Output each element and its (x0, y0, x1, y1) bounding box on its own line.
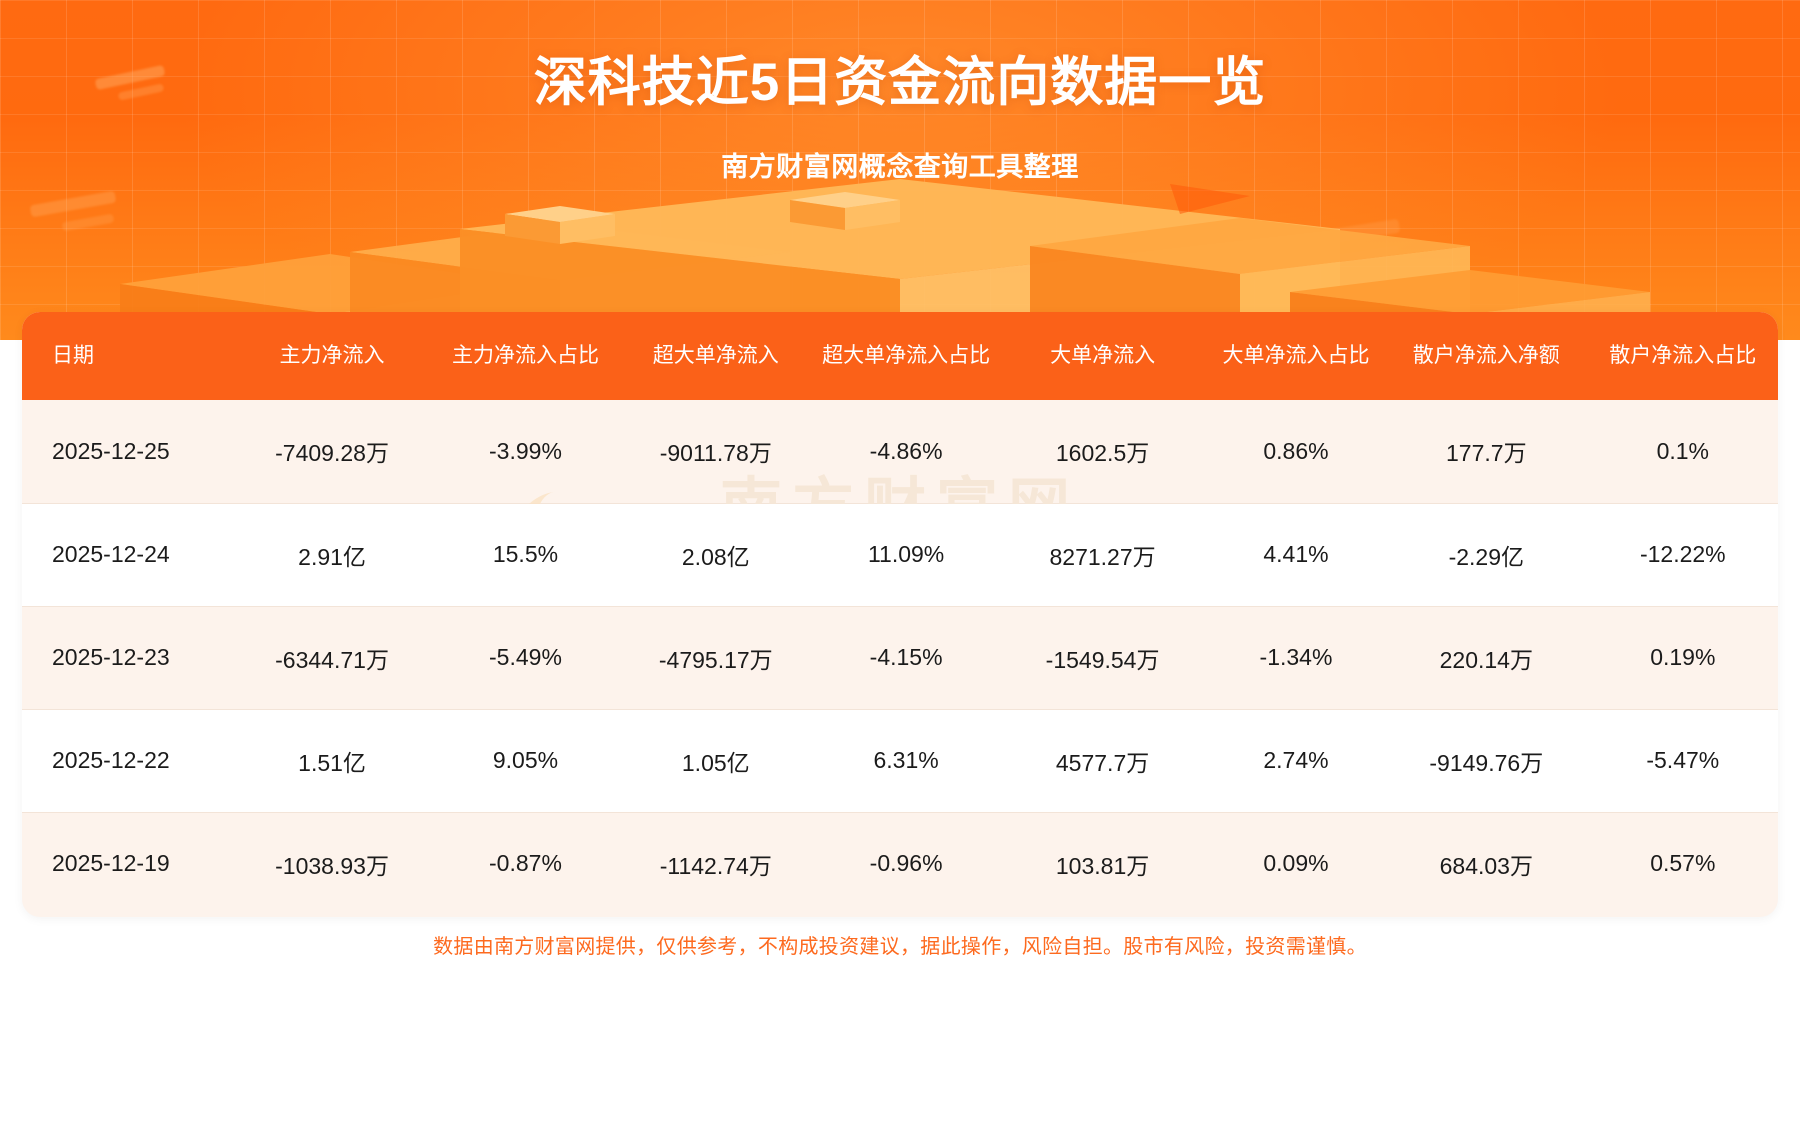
cell-large-net-ratio: 2.74% (1207, 709, 1385, 812)
column-header-large-net-ratio[interactable]: 大单净流入占比 (1207, 312, 1385, 400)
cell-date: 2025-12-22 (22, 709, 231, 812)
page-subtitle: 南方财富网概念查询工具整理 (0, 145, 1800, 184)
cell-retail-net-ratio: -5.47% (1588, 709, 1778, 812)
column-header-date[interactable]: 日期 (22, 312, 231, 400)
column-header-main-net-ratio[interactable]: 主力净流入占比 (433, 312, 617, 400)
cell-xl-net-inflow: -9011.78万 (618, 400, 814, 503)
cell-xl-net-inflow: -1142.74万 (618, 812, 814, 915)
cell-xl-net-inflow: -4795.17万 (618, 606, 814, 709)
fund-flow-table: 日期 主力净流入 主力净流入占比 超大单净流入 超大单净流入占比 大单净流入 大… (22, 312, 1778, 915)
cell-main-net-inflow: -7409.28万 (231, 400, 434, 503)
cell-retail-net-amount: -9149.76万 (1385, 709, 1588, 812)
cell-retail-net-amount: 220.14万 (1385, 606, 1588, 709)
cell-xl-net-ratio: -0.96% (814, 812, 998, 915)
table-head: 日期 主力净流入 主力净流入占比 超大单净流入 超大单净流入占比 大单净流入 大… (22, 312, 1778, 400)
cell-retail-net-ratio: 0.19% (1588, 606, 1778, 709)
table-row[interactable]: 2025-12-19 -1038.93万 -0.87% -1142.74万 -0… (22, 812, 1778, 915)
cell-large-net-inflow: 103.81万 (998, 812, 1207, 915)
cell-large-net-ratio: 0.86% (1207, 400, 1385, 503)
cell-main-net-inflow: -6344.71万 (231, 606, 434, 709)
cell-large-net-ratio: -1.34% (1207, 606, 1385, 709)
cell-main-net-ratio: 9.05% (433, 709, 617, 812)
cell-large-net-inflow: 4577.7万 (998, 709, 1207, 812)
cell-xl-net-ratio: 6.31% (814, 709, 998, 812)
cell-large-net-inflow: 8271.27万 (998, 503, 1207, 606)
cell-date: 2025-12-25 (22, 400, 231, 503)
cell-main-net-ratio: -5.49% (433, 606, 617, 709)
table-row[interactable]: 2025-12-25 -7409.28万 -3.99% -9011.78万 -4… (22, 400, 1778, 503)
cell-main-net-inflow: 1.51亿 (231, 709, 434, 812)
table-row[interactable]: 2025-12-22 1.51亿 9.05% 1.05亿 6.31% 4577.… (22, 709, 1778, 812)
column-header-main-net-inflow[interactable]: 主力净流入 (231, 312, 434, 400)
cell-date: 2025-12-23 (22, 606, 231, 709)
table-body: 2025-12-25 -7409.28万 -3.99% -9011.78万 -4… (22, 400, 1778, 915)
cell-main-net-ratio: -0.87% (433, 812, 617, 915)
page-title: 深科技近5日资金流向数据一览 (0, 40, 1800, 116)
column-header-large-net-inflow[interactable]: 大单净流入 (998, 312, 1207, 400)
cell-large-net-inflow: 1602.5万 (998, 400, 1207, 503)
page-bottom-fill (0, 975, 1800, 1138)
disclaimer-text: 数据由南方财富网提供，仅供参考，不构成投资建议，据此操作，风险自担。股市有风险，… (0, 930, 1800, 959)
column-header-retail-net-ratio[interactable]: 散户净流入占比 (1588, 312, 1778, 400)
cell-main-net-inflow: 2.91亿 (231, 503, 434, 606)
cell-date: 2025-12-19 (22, 812, 231, 915)
cell-main-net-inflow: -1038.93万 (231, 812, 434, 915)
cell-xl-net-ratio: -4.86% (814, 400, 998, 503)
table-header-row: 日期 主力净流入 主力净流入占比 超大单净流入 超大单净流入占比 大单净流入 大… (22, 312, 1778, 400)
cell-date: 2025-12-24 (22, 503, 231, 606)
data-card: 南方财富网 outhmoney.com 日期 主力净流入 主力净流入占比 超大单… (22, 312, 1778, 917)
table-row[interactable]: 2025-12-24 2.91亿 15.5% 2.08亿 11.09% 8271… (22, 503, 1778, 606)
column-header-retail-net-amount[interactable]: 散户净流入净额 (1385, 312, 1588, 400)
cell-retail-net-ratio: 0.57% (1588, 812, 1778, 915)
cell-retail-net-amount: -2.29亿 (1385, 503, 1588, 606)
cell-main-net-ratio: 15.5% (433, 503, 617, 606)
cell-retail-net-amount: 684.03万 (1385, 812, 1588, 915)
cell-large-net-ratio: 4.41% (1207, 503, 1385, 606)
cell-xl-net-inflow: 1.05亿 (618, 709, 814, 812)
cell-large-net-inflow: -1549.54万 (998, 606, 1207, 709)
column-header-xl-net-inflow[interactable]: 超大单净流入 (618, 312, 814, 400)
cell-retail-net-ratio: -12.22% (1588, 503, 1778, 606)
cell-xl-net-ratio: 11.09% (814, 503, 998, 606)
cell-main-net-ratio: -3.99% (433, 400, 617, 503)
cell-xl-net-ratio: -4.15% (814, 606, 998, 709)
table-row[interactable]: 2025-12-23 -6344.71万 -5.49% -4795.17万 -4… (22, 606, 1778, 709)
cell-retail-net-amount: 177.7万 (1385, 400, 1588, 503)
cell-large-net-ratio: 0.09% (1207, 812, 1385, 915)
hero-banner: 深科技近5日资金流向数据一览 南方财富网概念查询工具整理 (0, 0, 1800, 340)
cell-xl-net-inflow: 2.08亿 (618, 503, 814, 606)
column-header-xl-net-ratio[interactable]: 超大单净流入占比 (814, 312, 998, 400)
cell-retail-net-ratio: 0.1% (1588, 400, 1778, 503)
